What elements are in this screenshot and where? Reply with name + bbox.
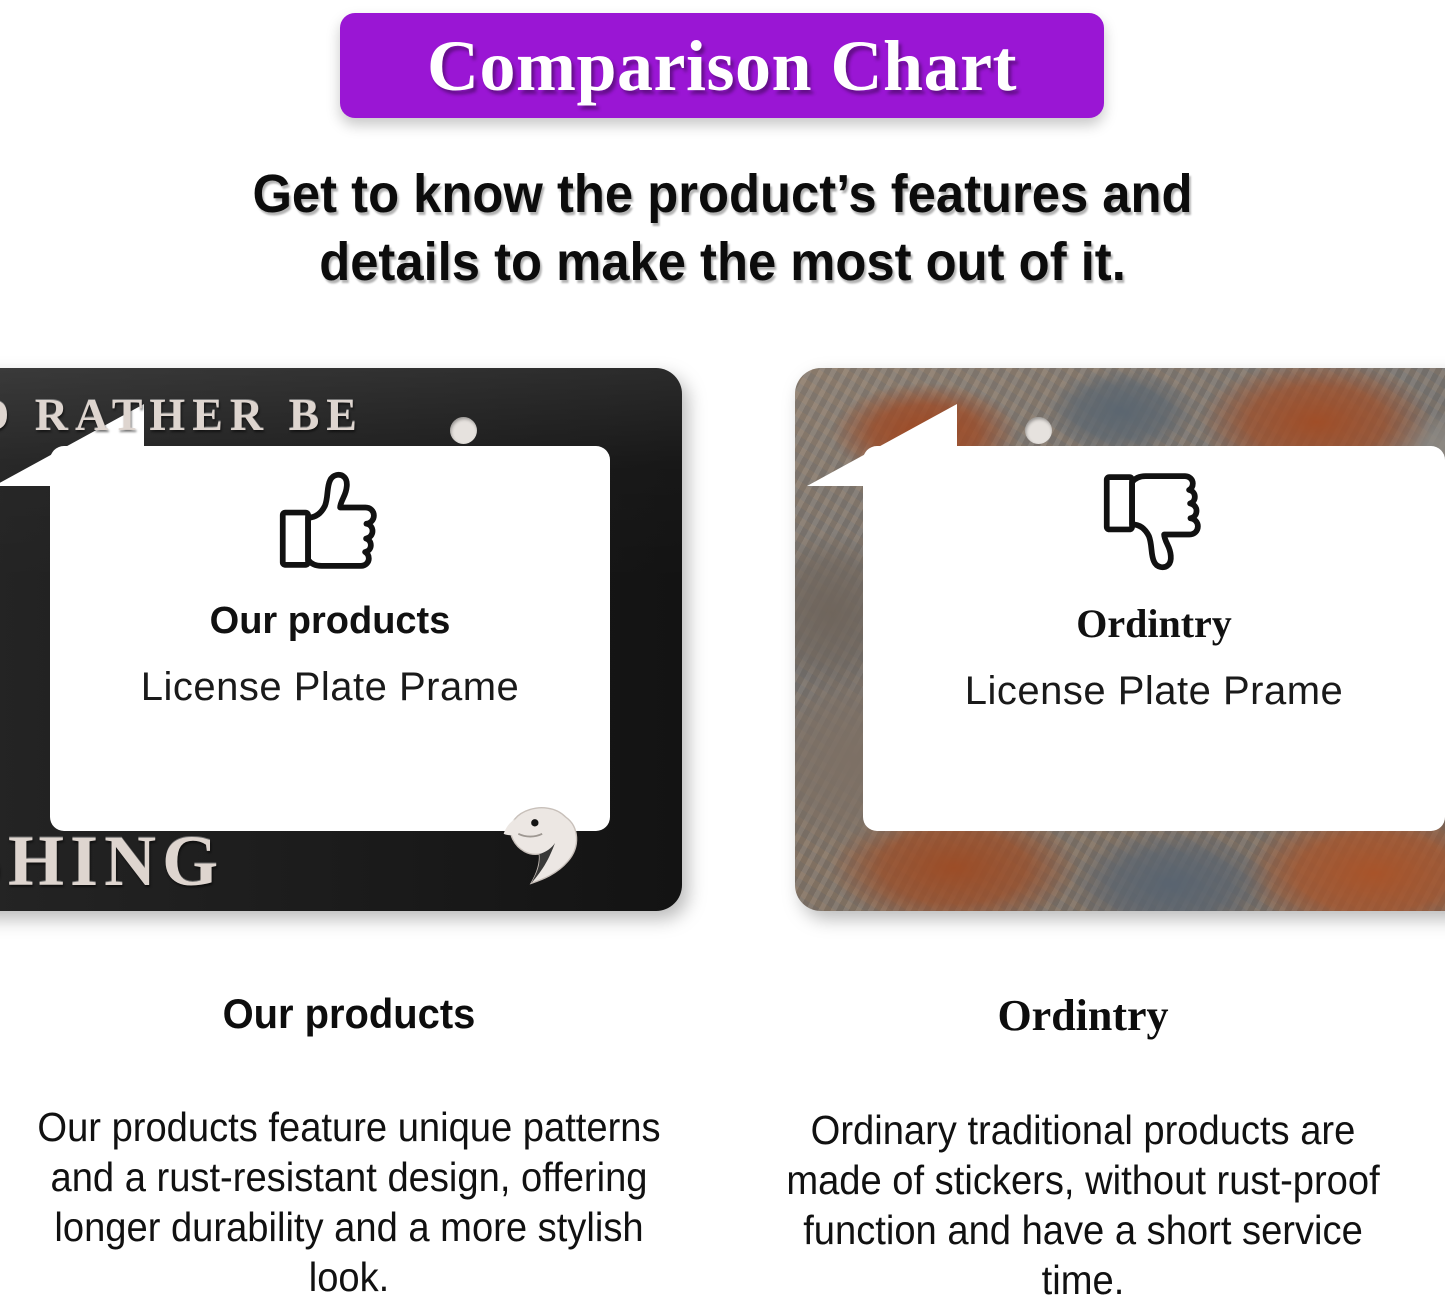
product-frame-ours: D RATHER BE SHING Our products Licens xyxy=(0,368,682,911)
product-frame-ordinary: Ordintry License Plate Prame xyxy=(795,368,1445,911)
column-heading-ordinary: Ordintry xyxy=(722,990,1444,1041)
frame-title-ordinary: Ordintry xyxy=(1076,600,1232,647)
description-column-ours: Our products Our products feature unique… xyxy=(0,990,710,1302)
column-body-ordinary: Ordinary traditional products are made o… xyxy=(747,1105,1418,1305)
column-heading-ours: Our products xyxy=(6,990,692,1038)
frame-subtitle-ordinary: License Plate Prame xyxy=(965,669,1344,714)
frame-subtitle-ours: License Plate Prame xyxy=(141,665,520,710)
description-column-ordinary: Ordintry Ordinary traditional products a… xyxy=(722,990,1444,1305)
plate-top-text: D RATHER BE xyxy=(0,388,364,441)
mounting-hole-icon xyxy=(450,417,477,444)
comparison-chart-page: Comparison Chart Get to know the product… xyxy=(0,0,1445,1314)
thumbs-up-icon xyxy=(276,468,384,574)
column-body-ours: Our products feature unique patterns and… xyxy=(13,1102,684,1302)
frame-content-ordinary: Ordintry License Plate Prame xyxy=(863,446,1445,831)
frame-title-ours: Our products xyxy=(210,600,451,643)
plate-bottom-text: SHING xyxy=(0,820,224,903)
frame-content-ours: Our products License Plate Prame xyxy=(50,446,610,831)
mounting-hole-icon xyxy=(1025,417,1052,444)
thumbs-down-icon xyxy=(1100,468,1208,574)
description-columns: Our products Our products feature unique… xyxy=(0,990,1445,1314)
